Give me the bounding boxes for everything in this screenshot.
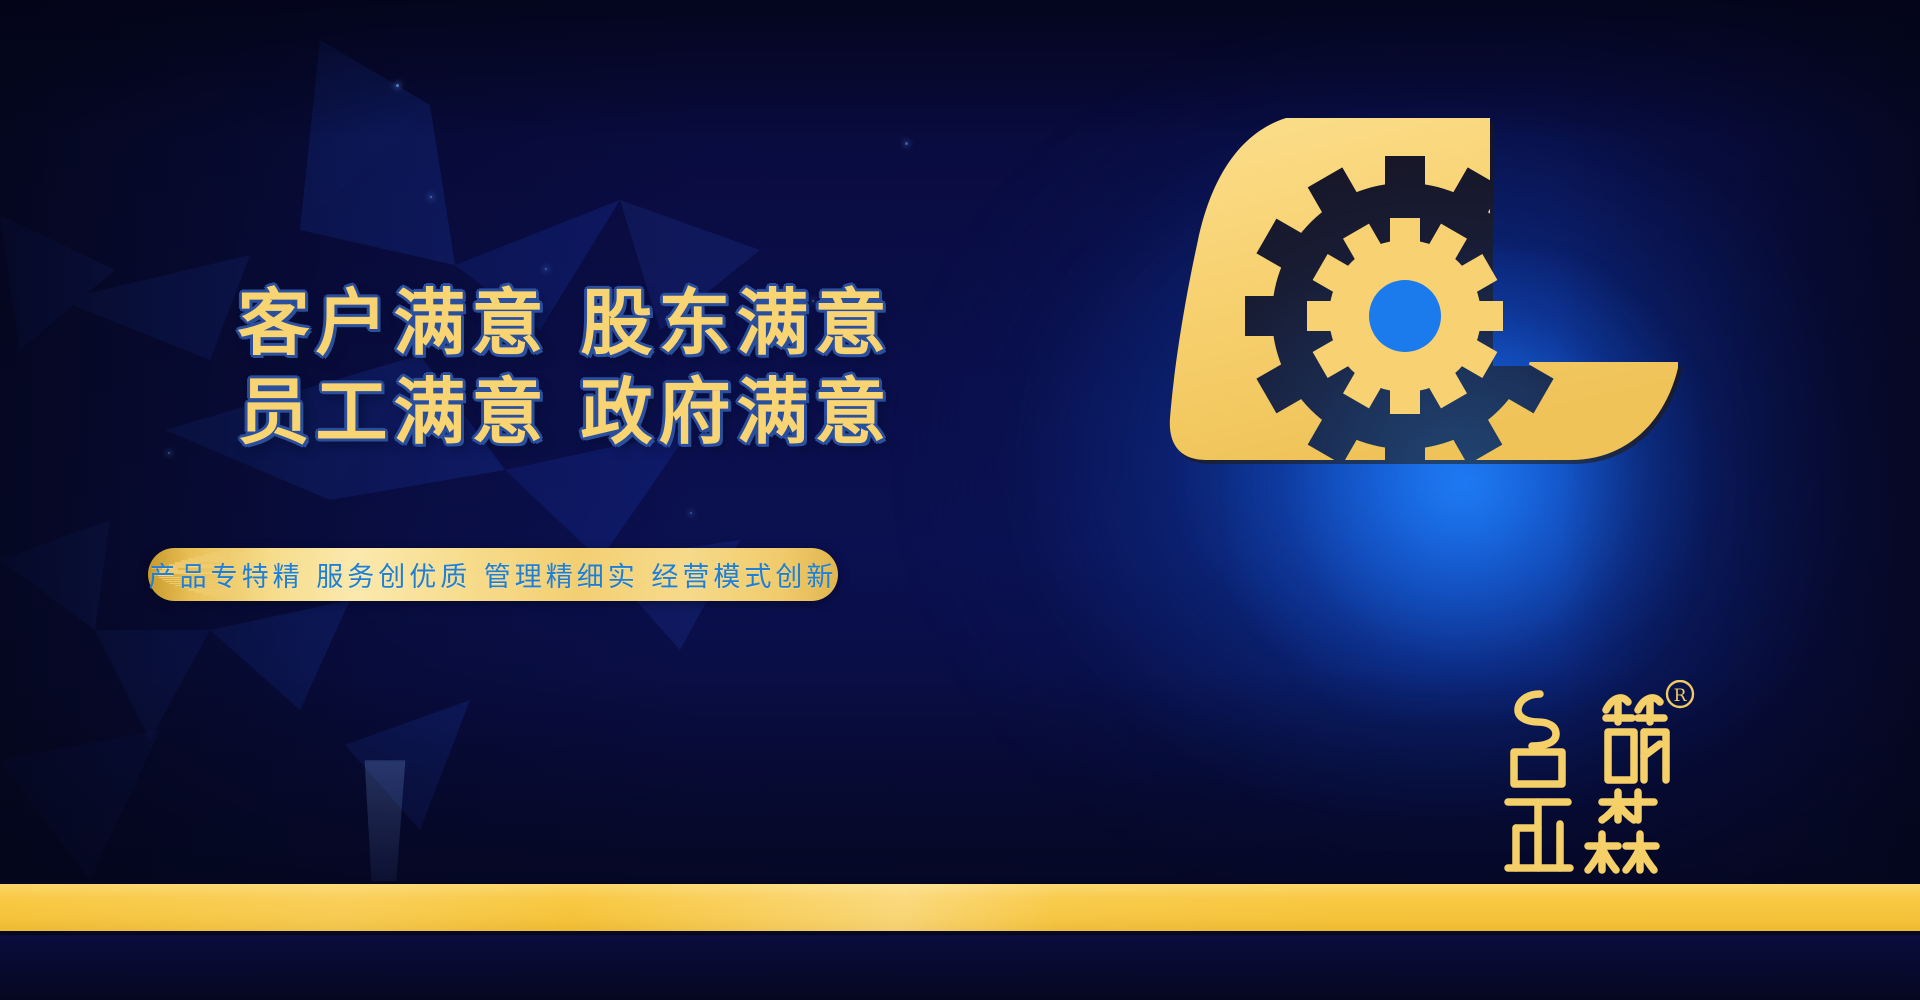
bottom-dark-strip — [0, 935, 1920, 1000]
glyph-zhu — [1606, 698, 1666, 780]
pill-banner-text: 产品专特精 服务创优质 管理精细实 经营模式创新 — [148, 548, 838, 601]
banner-canvas: 客户满意 股东满意 员工满意 政府满意 产品专特精 服务创优质 管理精细实 经营… — [0, 0, 1920, 1000]
sparkle-dot — [168, 452, 170, 454]
bottom-gold-bar — [0, 884, 1920, 931]
company-logo-icon — [1118, 88, 1698, 488]
sparkle-dot — [905, 142, 908, 145]
sparkle-dot — [690, 512, 692, 514]
glyph-sen — [1588, 792, 1656, 870]
registered-trademark-icon: R — [1667, 681, 1693, 707]
sparkle-dot — [545, 268, 547, 270]
glyph-zheng — [1508, 802, 1570, 868]
sparkle-dot — [430, 196, 432, 198]
svg-text:R: R — [1674, 686, 1688, 706]
sparkle-dot — [396, 84, 399, 87]
gold-pill-banner: 产品专特精 服务创优质 管理精细实 经营模式创新 — [148, 548, 838, 601]
company-wordmark: R — [1488, 680, 1708, 880]
slogan-line-1: 客户满意 股东满意 — [205, 283, 925, 364]
slogan-line-2: 员工满意 政府满意 — [205, 372, 925, 453]
main-slogan: 客户满意 股东满意 员工满意 政府满意 — [205, 283, 925, 452]
glyph-tai — [1514, 694, 1562, 784]
